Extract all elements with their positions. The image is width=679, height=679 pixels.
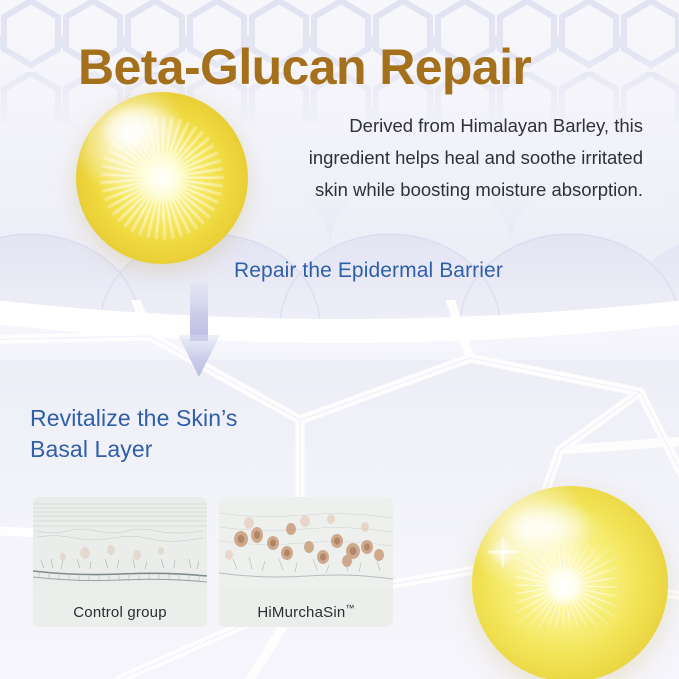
section-heading-line-1: Revitalize the Skin’s <box>30 403 360 434</box>
sphere-core-glow-bottom <box>543 568 586 603</box>
micrograph-image-treated <box>219 497 393 589</box>
gold-sphere-icon <box>76 92 248 264</box>
panel-caption-control: Control group <box>33 604 207 621</box>
sphere-core-glow <box>134 150 189 205</box>
down-arrow-icon <box>176 283 222 379</box>
micrograph-image-control <box>33 497 207 589</box>
sphere-highlight <box>104 106 183 158</box>
micrograph-panel-treated: HiMurchaSin™ <box>219 497 393 627</box>
product-infographic: Beta-Glucan Repair Derived from Himalaya… <box>0 0 679 679</box>
lens-flare-icon <box>488 537 518 567</box>
section-heading-basal-layer: Revitalize the Skin’s Basal Layer <box>30 403 360 466</box>
gold-sphere-burst-icon <box>472 486 668 679</box>
subheading-epidermal-barrier: Repair the Epidermal Barrier <box>234 258 654 283</box>
section-heading-line-2: Basal Layer <box>30 434 360 465</box>
curved-divider <box>0 270 679 360</box>
page-title: Beta-Glucan Repair <box>78 40 644 94</box>
panel-caption-treated: HiMurchaSin™ <box>219 603 393 621</box>
description-text: Derived from Himalayan Barley, this ingr… <box>291 110 643 205</box>
panel-caption-treated-text: HiMurchaSin <box>257 604 345 621</box>
micrograph-panel-control: Control group <box>33 497 207 627</box>
trademark-symbol: ™ <box>345 603 354 613</box>
sphere-highlight-bottom <box>511 504 601 555</box>
